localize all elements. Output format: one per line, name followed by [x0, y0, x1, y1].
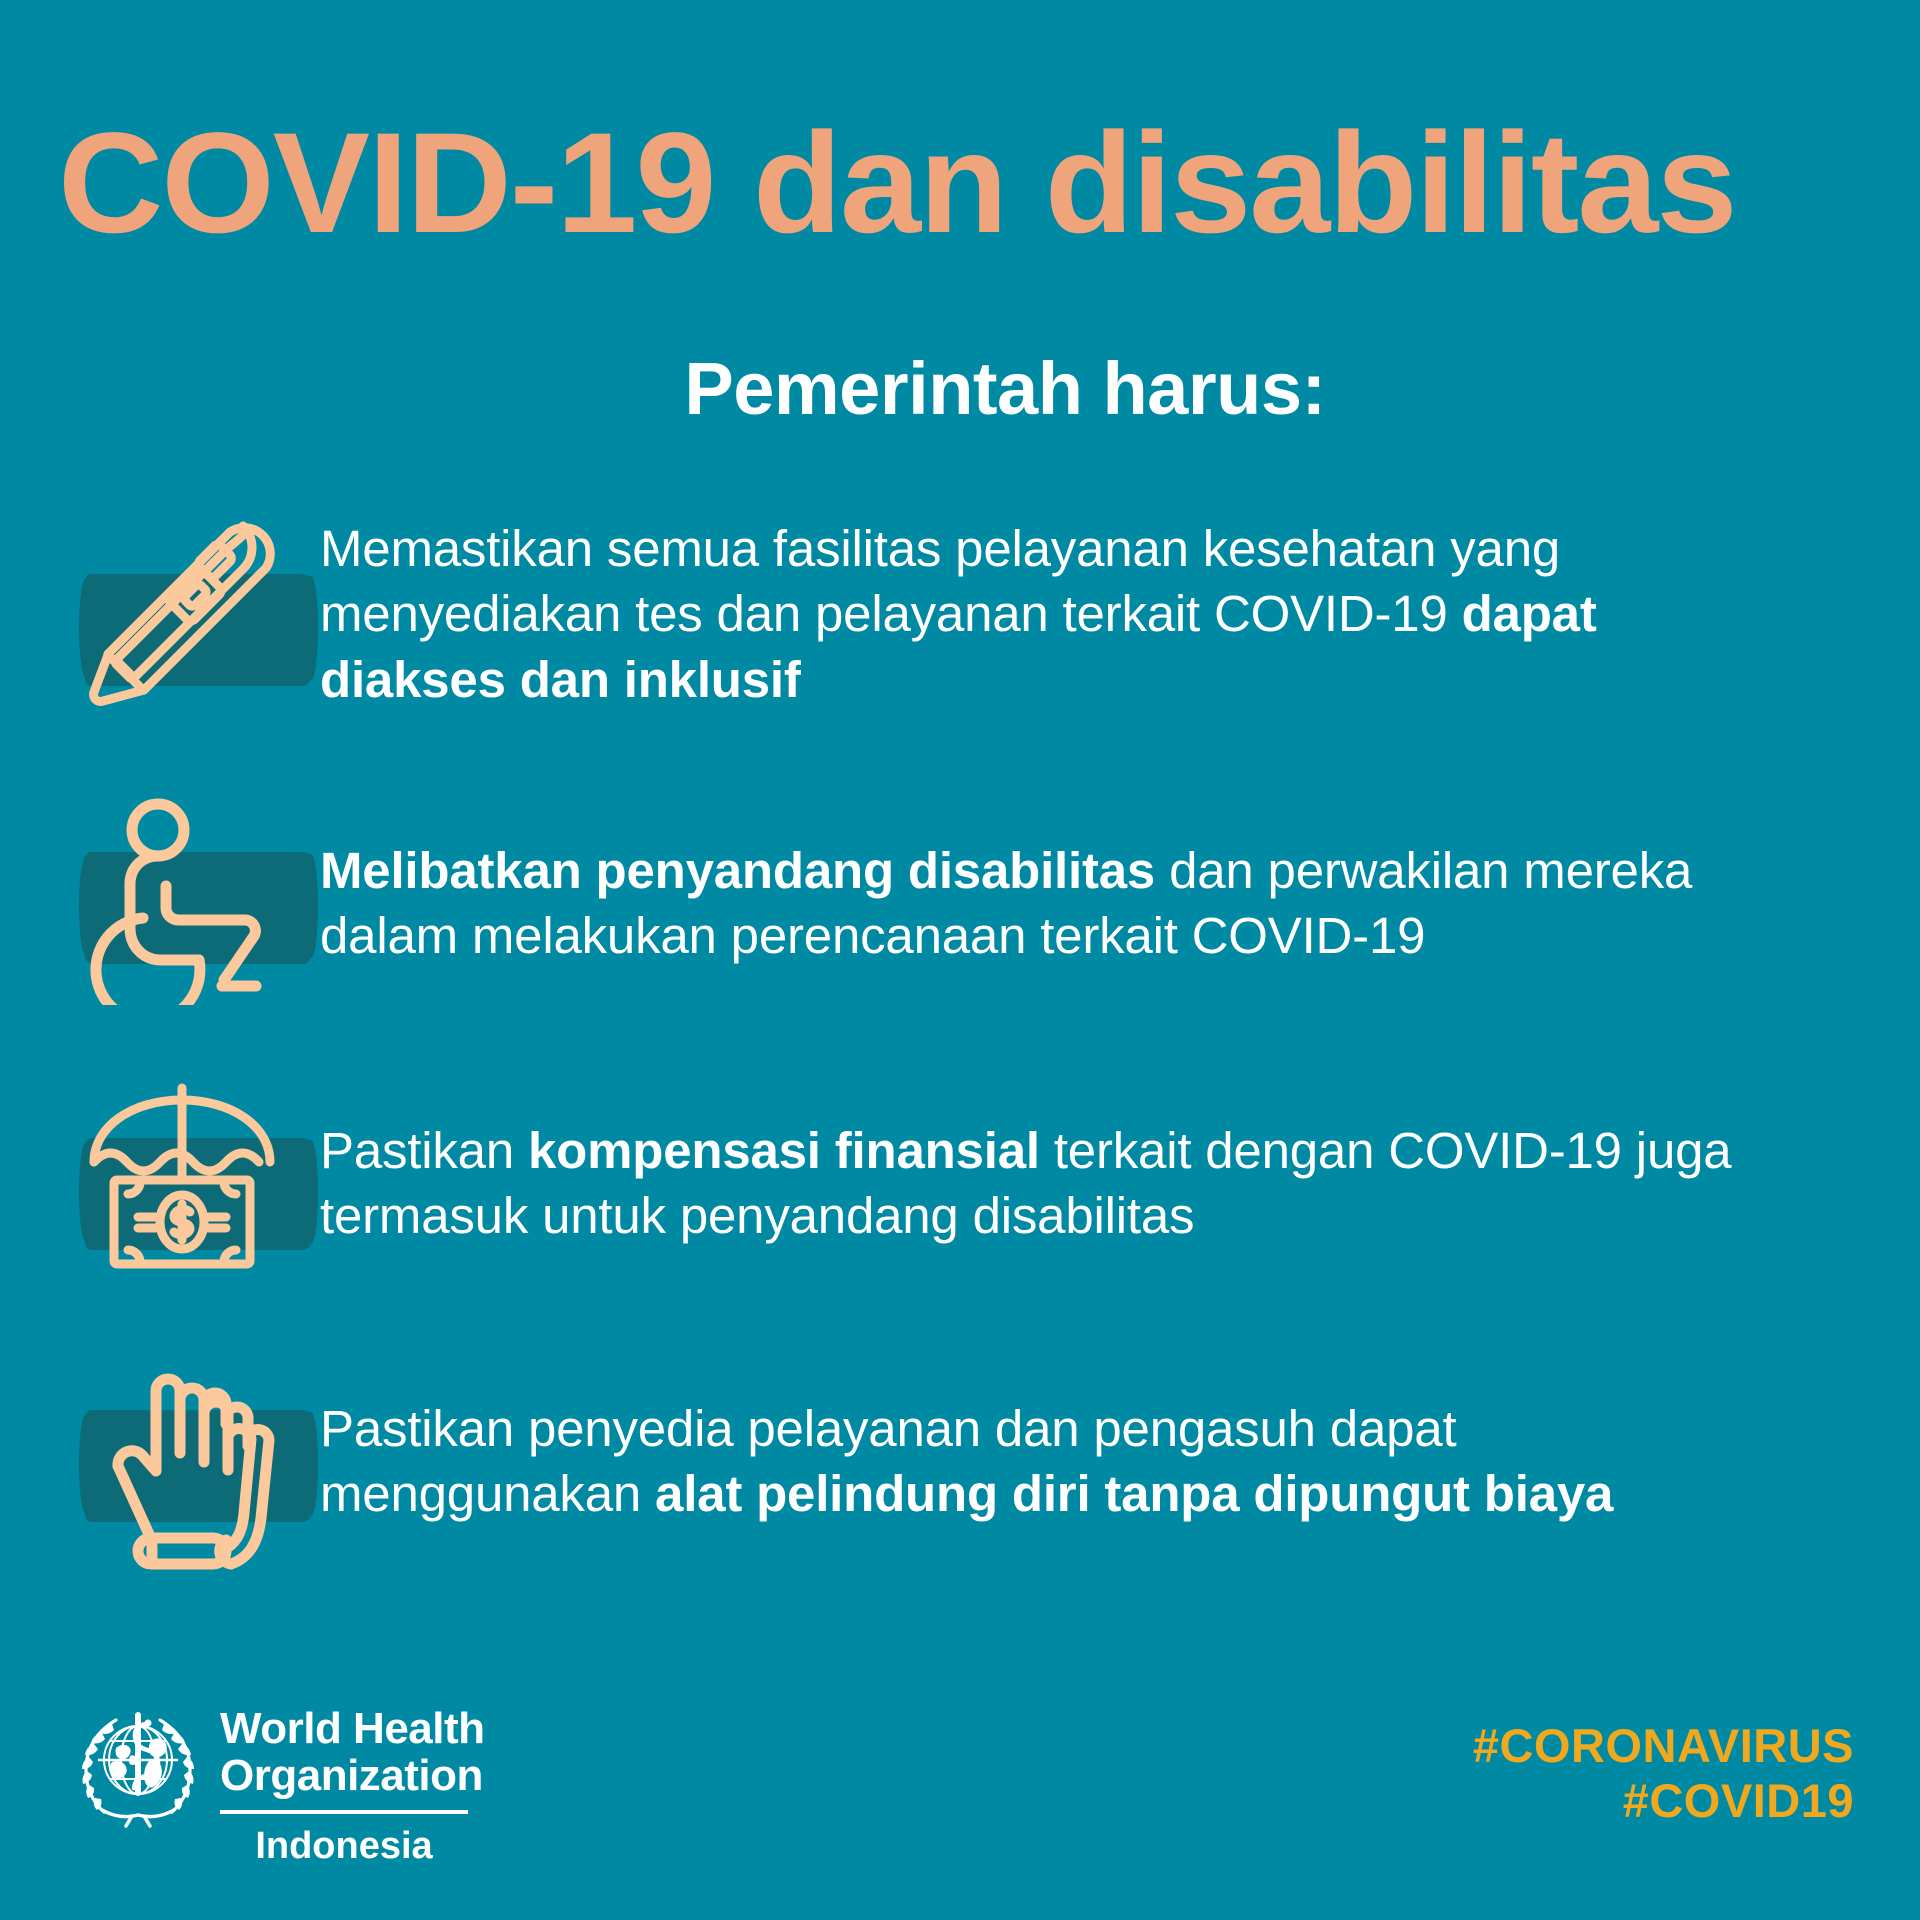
umbrella-money-icon — [80, 1076, 285, 1291]
who-wordmark: World Health Organization Indonesia — [220, 1700, 485, 1868]
thermometer-icon — [80, 512, 285, 727]
wordmark-divider — [220, 1810, 468, 1814]
icon-cell — [0, 512, 320, 727]
who-logo: World Health Organization Indonesia — [72, 1700, 485, 1868]
icon-cell — [0, 1076, 320, 1291]
who-org-line1: World Health — [220, 1706, 485, 1753]
who-emblem-icon — [72, 1700, 204, 1832]
who-country-label: Indonesia — [220, 1825, 468, 1868]
bullet-text: Pastikan penyedia pelayanan dan pengasuh… — [320, 1338, 1750, 1527]
bullet-text: Pastikan kompensasi finansial terkait de… — [320, 1076, 1750, 1249]
bullet-row: Pastikan penyedia pelayanan dan pengasuh… — [0, 1338, 1920, 1588]
bullet-row: Pastikan kompensasi finansial terkait de… — [0, 1076, 1920, 1291]
bullet-segment-bold: Melibatkan penyandang disabilitas — [320, 842, 1155, 899]
bullet-segment: Memastikan semua fasilitas pelayanan kes… — [320, 520, 1560, 642]
bullet-text: Memastikan semua fasilitas pelayanan kes… — [320, 512, 1750, 712]
subtitle-heading: Pemerintah harus: — [0, 352, 1920, 426]
bullet-text: Melibatkan penyandang disabilitas dan pe… — [320, 790, 1750, 969]
icon-cell — [0, 790, 320, 1005]
wheelchair-accessibility-icon — [80, 790, 285, 1005]
protective-gloves-icon — [80, 1348, 285, 1583]
hashtag-block: #CORONAVIRUS #COVID19 — [1473, 1718, 1854, 1829]
page-title: COVID-19 dan disabilitas — [58, 112, 1914, 255]
bullet-segment-bold: kompensasi finansial — [528, 1122, 1040, 1179]
infographic-poster: COVID-19 dan disabilitas Pemerintah haru… — [0, 0, 1920, 1920]
bullet-row: Melibatkan penyandang disabilitas dan pe… — [0, 790, 1920, 1005]
hashtag-covid19: #COVID19 — [1473, 1773, 1854, 1828]
who-org-line2: Organization — [220, 1753, 485, 1800]
bullet-row: Memastikan semua fasilitas pelayanan kes… — [0, 512, 1920, 727]
icon-cell — [0, 1338, 320, 1588]
bullet-segment-bold: alat pelindung diri tanpa dipungut biaya — [655, 1465, 1613, 1522]
bullet-segment: Pastikan — [320, 1122, 528, 1179]
hashtag-coronavirus: #CORONAVIRUS — [1473, 1718, 1854, 1773]
